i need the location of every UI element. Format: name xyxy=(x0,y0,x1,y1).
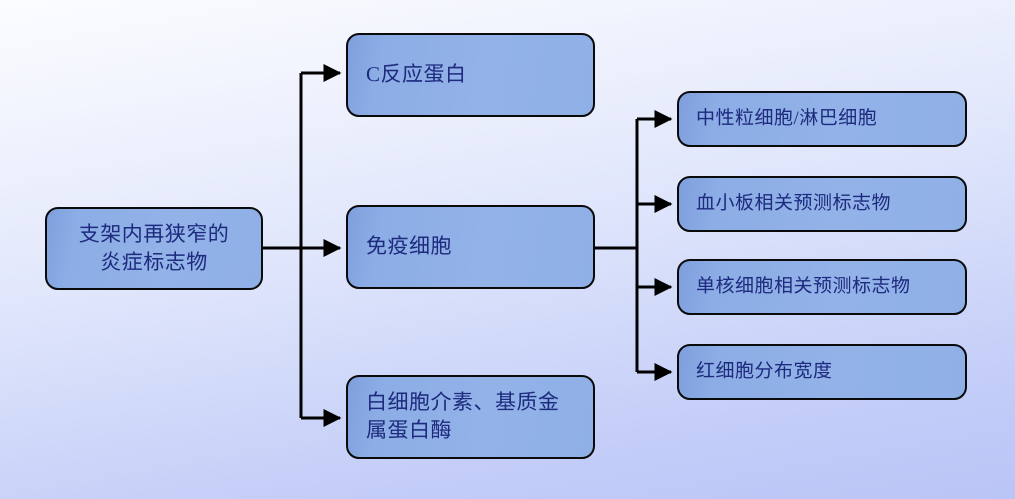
node-platelet-markers-label: 血小板相关预测标志物 xyxy=(696,191,955,216)
node-neutrophil-lymphocyte[interactable]: 中性粒细胞/淋巴细胞 xyxy=(677,91,967,147)
node-neutrophil-lymphocyte-label: 中性粒细胞/淋巴细胞 xyxy=(696,106,955,131)
node-platelet-markers[interactable]: 血小板相关预测标志物 xyxy=(677,176,967,232)
node-rdw[interactable]: 红细胞分布宽度 xyxy=(677,344,967,400)
node-rdw-label: 红细胞分布宽度 xyxy=(696,359,955,384)
node-c-reactive-protein-label: C反应蛋白 xyxy=(366,61,581,89)
node-monocyte-markers-label: 单核细胞相关预测标志物 xyxy=(696,274,955,299)
node-root-label: 支架内再狭窄的 炎症标志物 xyxy=(47,221,261,276)
node-interleukin-mmp[interactable]: 白细胞介素、基质金 属蛋白酶 xyxy=(346,375,595,459)
node-interleukin-mmp-label: 白细胞介素、基质金 属蛋白酶 xyxy=(366,389,581,444)
node-monocyte-markers[interactable]: 单核细胞相关预测标志物 xyxy=(677,259,967,315)
node-immune-cells-label: 免疫细胞 xyxy=(366,233,581,261)
diagram-canvas: 支架内再狭窄的 炎症标志物 C反应蛋白 免疫细胞 白细胞介素、基质金 属蛋白酶 … xyxy=(0,0,1015,499)
node-root[interactable]: 支架内再狭窄的 炎症标志物 xyxy=(45,207,263,290)
node-c-reactive-protein[interactable]: C反应蛋白 xyxy=(346,33,595,117)
node-immune-cells[interactable]: 免疫细胞 xyxy=(346,205,595,289)
